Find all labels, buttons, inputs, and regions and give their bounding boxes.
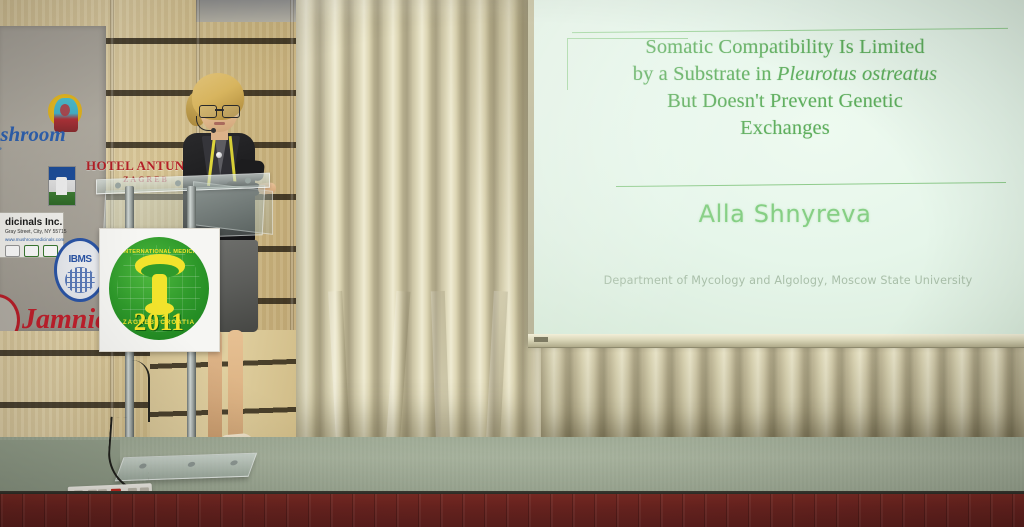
speaker-pendant <box>216 152 222 158</box>
curtain-fold <box>328 291 350 442</box>
curtain-fold <box>386 291 410 442</box>
projection-screen-roller <box>528 334 1024 348</box>
projection-screen: Somatic Compatibility Is Limited by a Su… <box>534 0 1024 334</box>
sponsor-card-line2: Gray Street, City, NY 55715 <box>5 229 67 235</box>
slide-title-line-4: Exchanges <box>560 115 1010 142</box>
sponsor-blue-logo-sub: grown for life <box>0 147 66 152</box>
sponsor-card-title: dicinals Inc. <box>5 217 62 228</box>
sponsor-jamnica-wordmark: Jamnica <box>22 304 106 331</box>
speaker-mouth <box>214 122 225 125</box>
slide-title-species: Pleurotus ostreatus <box>777 63 937 85</box>
speaker-leg-right <box>228 330 243 442</box>
sponsor-blue-logo-text: Mushroom <box>0 122 66 146</box>
slide-title-line-3: But Doesn't Prevent Genetic <box>560 88 1010 115</box>
stage-curtain <box>296 0 541 441</box>
stage-curtain-lower <box>541 345 1024 441</box>
sponsor-ibms-text: IBMS <box>57 254 103 265</box>
podium-cable-upper <box>132 360 150 422</box>
stage-skirt <box>0 494 1024 527</box>
slide-rule-top <box>572 28 1008 33</box>
sponsor-white-card: dicinals Inc. Gray Street, City, NY 5571… <box>0 212 64 258</box>
sponsor-card-marks <box>5 245 58 257</box>
sponsor-red-circle-icon <box>0 294 20 331</box>
slide-rule-mid <box>616 182 1006 187</box>
conference-logo-globe: 6TH INTERNATIONAL MEDICINAL MUSHROOM CON… <box>109 237 209 340</box>
slide-title-line-1: Somatic Compatibility Is Limited <box>560 34 1010 61</box>
curtain-fold <box>486 291 508 442</box>
curtain-fold <box>431 291 450 441</box>
slide-affiliation: Department of Mycology and Algology, Mos… <box>560 274 1016 287</box>
slide-title: Somatic Compatibility Is Limited by a Su… <box>560 34 1010 142</box>
mushroom-icon <box>135 254 185 312</box>
conference-sign: 6TH INTERNATIONAL MEDICINAL MUSHROOM CON… <box>99 228 220 352</box>
slide-author: Alla Shnyreva <box>560 200 1010 228</box>
sponsor-shield-icon <box>48 166 76 206</box>
slide-title-line-2: by a Substrate in Pleurotus ostreatus <box>560 61 1010 88</box>
conference-sign-arc-bottom: ZAGREB, CROATIA <box>109 319 209 326</box>
speaker-glasses-icon <box>199 105 240 116</box>
photo-scene: ce Mushroom grown for life dicinals Inc.… <box>0 0 1024 527</box>
sponsor-card-line3: www.mushroomedicinals.com <box>5 237 64 242</box>
sponsor-blue-logo: Mushroom grown for life <box>0 122 66 152</box>
slide-title-line-2-pre: by a Substrate in <box>633 63 777 85</box>
